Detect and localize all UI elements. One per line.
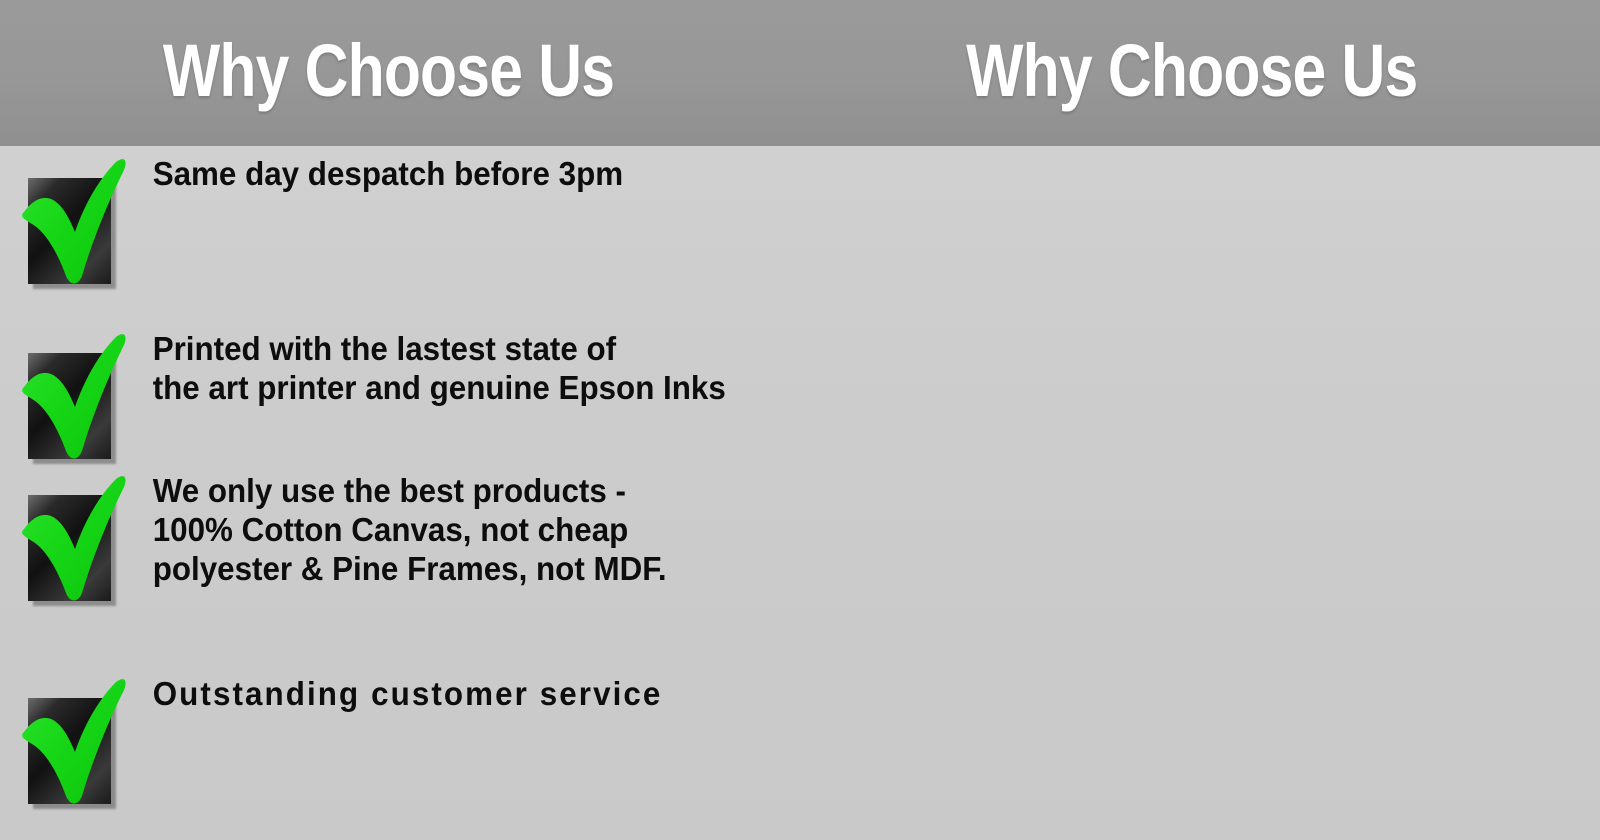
feature-column-right: Hand made to order by us here in Cheshir… [800,146,1600,840]
header-band: Why Choose Us Why Choose Us [0,0,1600,146]
feature-text: Outstanding customer service [128,674,662,713]
feature-item: Printed with the lastest state of the ar… [12,329,757,469]
page-title-right: Why Choose Us [872,32,1528,110]
green-check-icon [12,154,128,294]
header-half-left: Why Choose Us [0,0,800,146]
features-area: Same day despatch before 3pm Printed wit… [0,146,1600,840]
header-half-right: Why Choose Us [800,0,1600,146]
green-check-icon [12,329,128,469]
feature-column-left: Same day despatch before 3pm Printed wit… [0,146,800,840]
feature-item: Same day despatch before 3pm [12,154,649,294]
feature-text: We only use the best products - 100% Cot… [128,471,667,588]
feature-text: Printed with the lastest state of the ar… [128,329,726,407]
green-check-icon [12,674,128,814]
green-check-icon [12,471,128,611]
feature-item: Outstanding customer service [12,674,691,814]
feature-text: Same day despatch before 3pm [128,154,623,193]
page-title-left: Why Choose Us [72,32,728,110]
why-choose-us-banner: Why Choose Us Why Choose Us [0,0,1600,840]
feature-item: We only use the best products - 100% Cot… [12,471,695,611]
